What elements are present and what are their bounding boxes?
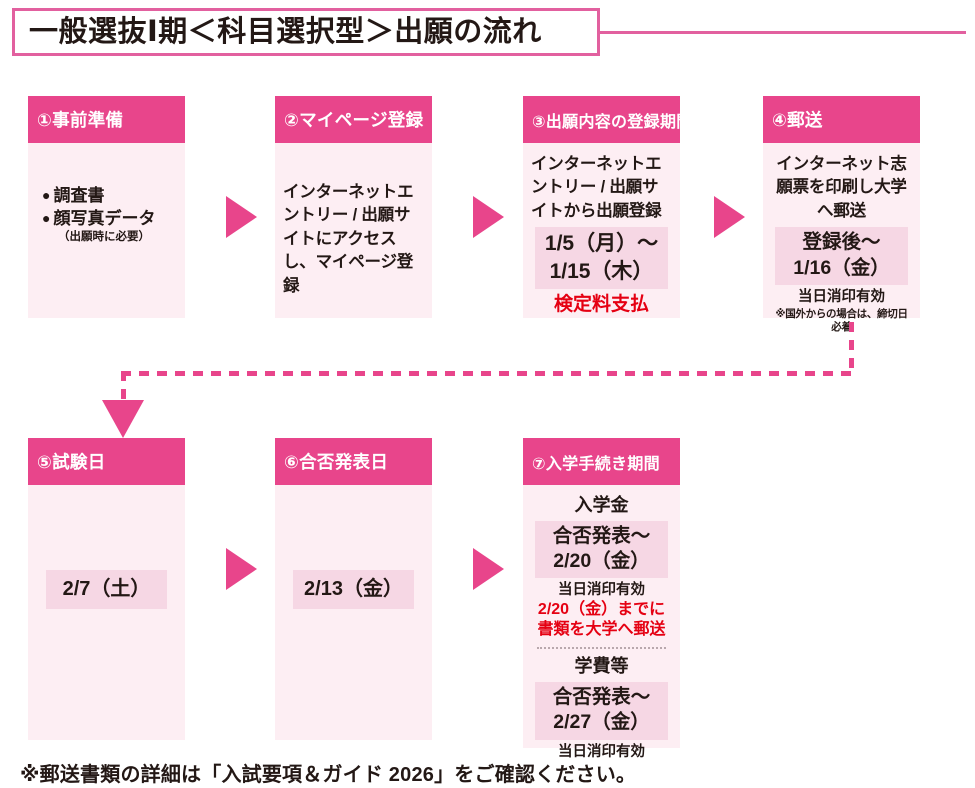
- step-4-text: インターネット志願票を印刷し大学へ郵送: [771, 153, 912, 223]
- section-divider: [537, 647, 666, 649]
- step-4-date-band: 登録後～ 1/16（金）: [775, 227, 908, 285]
- step-3-date-line-1: 1/5（月）～: [537, 230, 666, 257]
- step-7-header: ⑦入学手続き期間: [523, 438, 680, 485]
- step-card-2: ②マイページ登録 インターネットエントリー / 出願サイトにアクセスし、マイペー…: [275, 96, 432, 318]
- step-4-date-line-1: 登録後～: [777, 230, 906, 255]
- step-card-5: ⑤試験日 2/7（土）: [28, 438, 185, 740]
- step-6-body: 2/13（金）: [275, 485, 432, 619]
- step-1-bullet-1: 調査書: [53, 185, 104, 208]
- step-card-7: ⑦入学手続き期間 入学金 合否発表～ 2/20（金） 当日消印有効 2/20（金…: [523, 438, 680, 748]
- connector-vertical-left: [121, 371, 126, 403]
- step-7-mail-deadline-line-2: 書類を大学へ郵送: [531, 620, 672, 640]
- step-7-section-2-date-line-2: 2/27（金）: [537, 710, 666, 735]
- list-item: ● 調査書: [42, 185, 177, 208]
- step-card-3: ③出願内容の登録期間 インターネットエントリー / 出願サイトから出願登録 1/…: [523, 96, 680, 318]
- step-3-text: インターネットエントリー / 出願サイトから出願登録: [531, 153, 672, 223]
- step-3-body: インターネットエントリー / 出願サイトから出願登録 1/5（月）～ 1/15（…: [523, 143, 680, 327]
- step-3-header: ③出願内容の登録期間: [523, 96, 680, 143]
- arrow-step6-to-step7-icon: [473, 548, 504, 590]
- flowchart-page: 一般選抜Ⅰ期＜科目選択型＞出願の流れ ①事前準備 ● 調査書 ● 顔写真データ …: [0, 0, 975, 788]
- step-2-body: インターネットエントリー / 出願サイトにアクセスし、マイページ登録: [275, 143, 432, 308]
- bullet-dot-icon: ●: [42, 185, 50, 206]
- step-7-section-1-title: 入学金: [531, 493, 672, 519]
- footer-note: ※郵送書類の詳細は「入試要項＆ガイド 2026」をご確認ください。: [20, 758, 636, 787]
- step-4-overseas-note: ※国外からの場合は、締切日必着: [771, 308, 912, 334]
- step-5-header: ⑤試験日: [28, 438, 185, 485]
- step-7-section-1-date-line-2: 2/20（金）: [537, 549, 666, 574]
- step-card-4: ④郵送 インターネット志願票を印刷し大学へ郵送 登録後～ 1/16（金） 当日消…: [763, 96, 920, 318]
- step-7-section-1-date-line-1: 合否発表～: [537, 524, 666, 549]
- arrow-connector-down-icon: [102, 400, 144, 438]
- step-card-1: ①事前準備 ● 調査書 ● 顔写真データ （出願時に必要）: [28, 96, 185, 318]
- step-3-fee-notice: 検定料支払: [531, 293, 672, 317]
- step-7-body: 入学金 合否発表～ 2/20（金） 当日消印有効 2/20（金）までに 書類を大…: [523, 485, 680, 771]
- connector-horizontal: [121, 371, 852, 376]
- step-4-body: インターネット志願票を印刷し大学へ郵送 登録後～ 1/16（金） 当日消印有効 …: [763, 143, 920, 344]
- arrow-step3-to-step4-icon: [714, 196, 745, 238]
- step-7-section-1-date-band: 合否発表～ 2/20（金）: [535, 521, 668, 579]
- step-5-body: 2/7（土）: [28, 485, 185, 619]
- page-title-box: 一般選抜Ⅰ期＜科目選択型＞出願の流れ: [12, 8, 600, 56]
- arrow-step1-to-step2-icon: [226, 196, 257, 238]
- arrow-step2-to-step3-icon: [473, 196, 504, 238]
- step-1-body: ● 調査書 ● 顔写真データ （出願時に必要）: [28, 143, 185, 255]
- step-card-6: ⑥合否発表日 2/13（金）: [275, 438, 432, 740]
- step-7-section-2-date-band: 合否発表～ 2/27（金）: [535, 682, 668, 740]
- arrow-step5-to-step6-icon: [226, 548, 257, 590]
- step-2-text: インターネットエントリー / 出願サイトにアクセスし、マイページ登録: [283, 181, 424, 298]
- step-4-date-line-2: 1/16（金）: [777, 256, 906, 281]
- step-4-header: ④郵送: [763, 96, 920, 143]
- step-6-date: 2/13（金）: [293, 570, 414, 609]
- list-item: ● 顔写真データ: [42, 208, 177, 231]
- title-underline-rule: [600, 31, 966, 34]
- connector-vertical-right: [849, 322, 854, 374]
- step-7-section-2-title: 学費等: [531, 654, 672, 680]
- step-1-bullet-list: ● 調査書 ● 顔写真データ （出願時に必要）: [36, 185, 177, 245]
- step-7-section-2-date-line-1: 合否発表～: [537, 685, 666, 710]
- page-title: 一般選抜Ⅰ期＜科目選択型＞出願の流れ: [29, 18, 542, 47]
- step-1-header: ①事前準備: [28, 96, 185, 143]
- step-1-bullet-note: （出願時に必要）: [42, 230, 177, 245]
- step-1-bullet-2: 顔写真データ: [53, 208, 155, 231]
- step-3-date-band: 1/5（月）～ 1/15（木）: [535, 227, 668, 289]
- step-2-header: ②マイページ登録: [275, 96, 432, 143]
- bullet-dot-icon: ●: [42, 208, 50, 229]
- step-6-header: ⑥合否発表日: [275, 438, 432, 485]
- step-7-mail-deadline-line-1: 2/20（金）までに: [531, 600, 672, 620]
- step-4-postmark-note: 当日消印有効: [771, 288, 912, 306]
- step-5-date: 2/7（土）: [46, 570, 167, 609]
- step-3-date-line-2: 1/15（木）: [537, 258, 666, 285]
- step-7-section-1-postmark-note: 当日消印有効: [531, 581, 672, 599]
